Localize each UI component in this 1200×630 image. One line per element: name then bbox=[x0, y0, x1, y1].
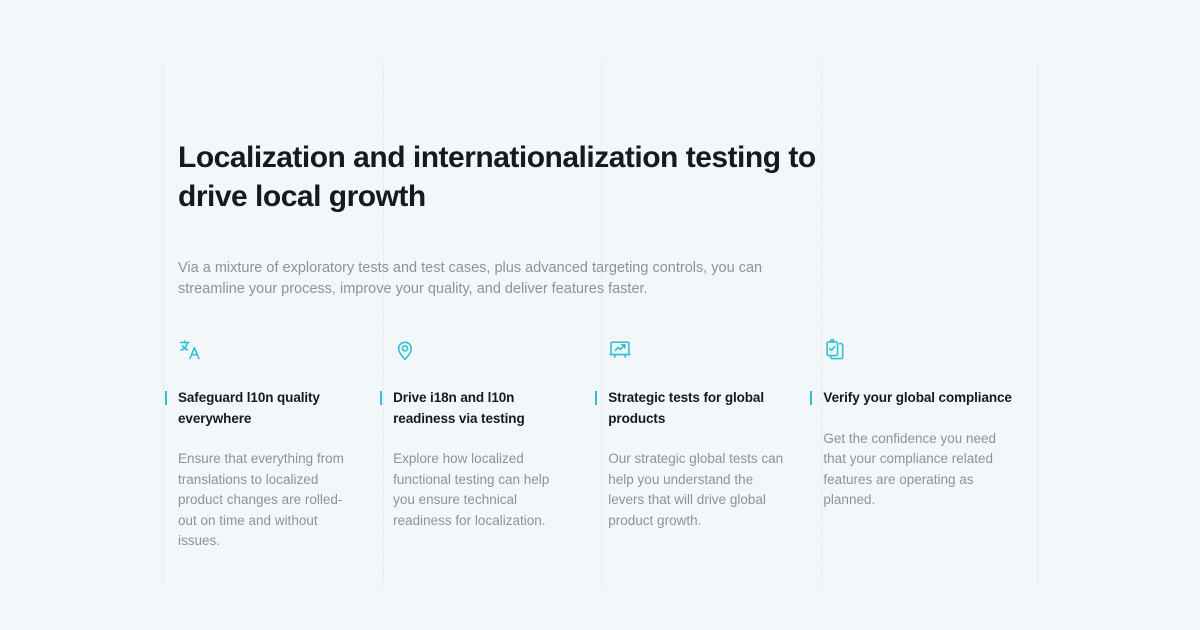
feature-column-3: Strategic tests for global products Our … bbox=[608, 338, 823, 552]
translate-icon bbox=[178, 338, 353, 364]
clipboard-check-icon bbox=[823, 338, 1020, 364]
page-title: Localization and internationalization te… bbox=[178, 138, 828, 216]
feature-body-4: Get the confidence you need that your co… bbox=[823, 429, 1020, 511]
feature-heading-row-3: Strategic tests for global products bbox=[595, 388, 783, 429]
feature-title-1: Safeguard l10n quality everywhere bbox=[178, 388, 353, 429]
feature-title-2: Drive i18n and l10n readiness via testin… bbox=[393, 388, 568, 429]
content-wrapper: Localization and internationalization te… bbox=[178, 0, 1038, 552]
feature-title-3: Strategic tests for global products bbox=[608, 388, 783, 429]
accent-bar bbox=[165, 391, 167, 405]
feature-column-4: Verify your global compliance Get the co… bbox=[823, 338, 1038, 552]
feature-body-1: Ensure that everything from translations… bbox=[178, 449, 353, 552]
accent-bar bbox=[595, 391, 597, 405]
feature-heading-row-1: Safeguard l10n quality everywhere bbox=[165, 388, 353, 429]
feature-column-1: Safeguard l10n quality everywhere Ensure… bbox=[178, 338, 393, 552]
map-pin-icon bbox=[393, 338, 568, 364]
feature-column-2: Drive i18n and l10n readiness via testin… bbox=[393, 338, 608, 552]
page-intro-paragraph: Via a mixture of exploratory tests and t… bbox=[178, 258, 810, 300]
feature-body-3: Our strategic global tests can help you … bbox=[608, 449, 783, 531]
feature-title-4: Verify your global compliance bbox=[823, 388, 1020, 409]
accent-bar bbox=[810, 391, 812, 405]
feature-heading-row-4: Verify your global compliance bbox=[810, 388, 1020, 409]
presentation-chart-icon bbox=[608, 338, 783, 364]
rule-left-border bbox=[163, 62, 164, 586]
feature-body-2: Explore how localized functional testing… bbox=[393, 449, 568, 531]
feature-heading-row-2: Drive i18n and l10n readiness via testin… bbox=[380, 388, 568, 429]
marketing-feature-page: Localization and internationalization te… bbox=[0, 0, 1200, 630]
feature-columns: Safeguard l10n quality everywhere Ensure… bbox=[178, 338, 1038, 552]
accent-bar bbox=[380, 391, 382, 405]
